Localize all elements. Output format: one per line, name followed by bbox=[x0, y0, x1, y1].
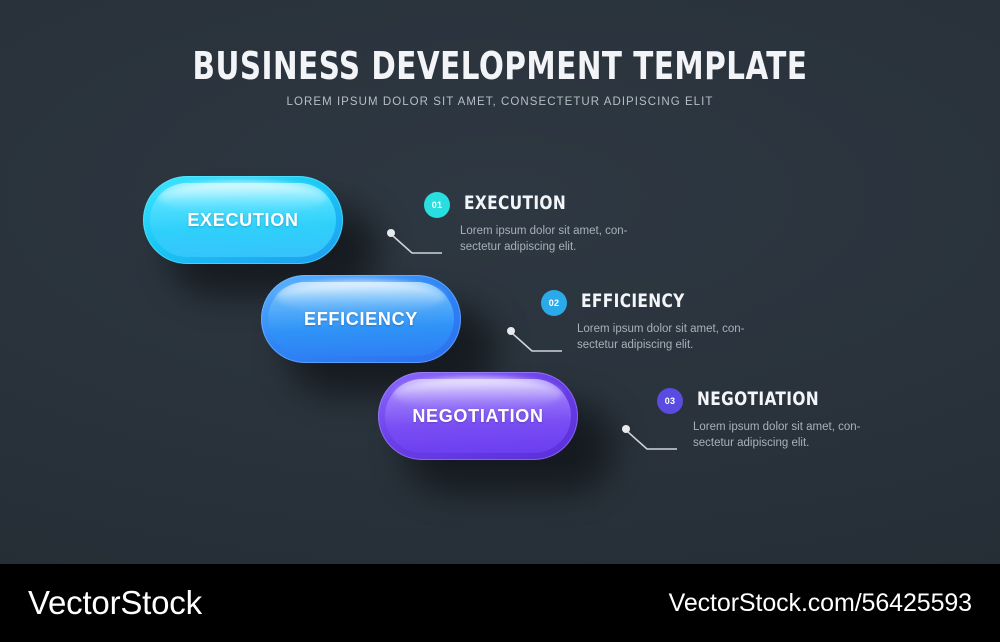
step-description: Lorem ipsum dolor sit amet, con-sectetur… bbox=[460, 223, 650, 255]
pill-label: EFFICIENCY bbox=[304, 309, 418, 330]
step-number-label: 03 bbox=[665, 396, 676, 406]
step-info-body: EFFICIENCY bbox=[581, 290, 767, 312]
step-pill-negotiation[interactable]: NEGOTIATION bbox=[378, 372, 578, 460]
step-pill-efficiency[interactable]: EFFICIENCY bbox=[261, 275, 461, 363]
step-title: EXECUTION bbox=[464, 192, 631, 214]
vectorstock-logo: VectorStock bbox=[28, 584, 202, 622]
step-title: EFFICIENCY bbox=[581, 290, 748, 312]
step-info-efficiency: 02 EFFICIENCY Lorem ipsum dolor sit amet… bbox=[541, 290, 767, 353]
step-description: Lorem ipsum dolor sit amet, con-sectetur… bbox=[693, 419, 883, 451]
step-number-label: 02 bbox=[549, 298, 560, 308]
step-number-badge: 02 bbox=[541, 290, 567, 316]
step-info-body: NEGOTIATION bbox=[697, 388, 883, 410]
step-number-badge: 03 bbox=[657, 388, 683, 414]
pill-label: EXECUTION bbox=[187, 210, 298, 231]
step-number-label: 01 bbox=[432, 200, 443, 210]
step-title: NEGOTIATION bbox=[697, 388, 864, 410]
pill-body: EFFICIENCY bbox=[261, 275, 461, 363]
vectorstock-url: VectorStock.com/56425593 bbox=[669, 589, 972, 618]
infographic-canvas: BUSINESS DEVELOPMENT TEMPLATE LOREM IPSU… bbox=[0, 0, 1000, 564]
watermark-footer: VectorStock VectorStock.com/56425593 bbox=[0, 564, 1000, 642]
header: BUSINESS DEVELOPMENT TEMPLATE LOREM IPSU… bbox=[0, 44, 1000, 108]
pill-label: NEGOTIATION bbox=[412, 406, 543, 427]
page-title: BUSINESS DEVELOPMENT TEMPLATE bbox=[70, 44, 930, 88]
step-info-negotiation: 03 NEGOTIATION Lorem ipsum dolor sit ame… bbox=[657, 388, 883, 451]
step-description: Lorem ipsum dolor sit amet, con-sectetur… bbox=[577, 321, 767, 353]
step-info-execution: 01 EXECUTION Lorem ipsum dolor sit amet,… bbox=[424, 192, 650, 255]
pill-body: NEGOTIATION bbox=[378, 372, 578, 460]
step-pill-execution[interactable]: EXECUTION bbox=[143, 176, 343, 264]
step-info-body: EXECUTION bbox=[464, 192, 650, 214]
step-number-badge: 01 bbox=[424, 192, 450, 218]
pill-body: EXECUTION bbox=[143, 176, 343, 264]
infographic-screenshot: BUSINESS DEVELOPMENT TEMPLATE LOREM IPSU… bbox=[0, 0, 1000, 642]
page-subtitle: LOREM IPSUM DOLOR SIT AMET, CONSECTETUR … bbox=[0, 96, 1000, 108]
